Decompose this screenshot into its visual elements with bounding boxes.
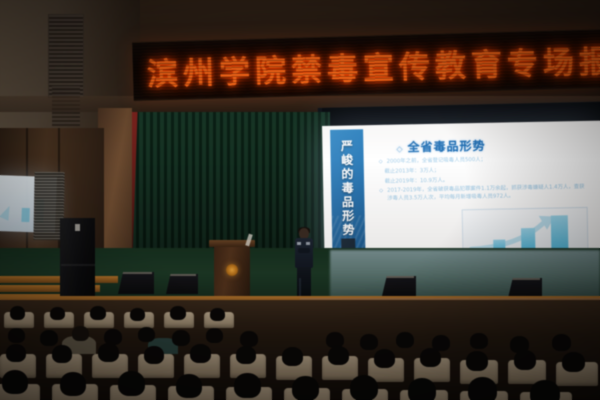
audience-head xyxy=(282,347,303,366)
bullet-dot-icon: ◇ xyxy=(379,159,383,167)
audience-head xyxy=(236,346,256,364)
audience-head xyxy=(8,328,25,343)
audience-head xyxy=(52,345,72,363)
audience-head xyxy=(514,350,536,370)
audience-head xyxy=(562,352,585,372)
audience-head xyxy=(138,327,155,342)
audience-head xyxy=(98,343,119,362)
stage-monitor xyxy=(166,274,198,294)
audience-head xyxy=(466,351,488,371)
audience-head xyxy=(50,307,65,320)
audience-head xyxy=(40,330,58,346)
stage-monitor xyxy=(382,276,416,296)
slide-title-text: 全省毒品形势 xyxy=(407,139,485,154)
slide-bullet-text: 2017-2019年，全省破获毒品犯罪案件1.1万余起，抓获涉毒嫌疑人1.4万人… xyxy=(387,184,585,203)
audience-head xyxy=(60,372,86,396)
speaker-arms xyxy=(298,248,310,253)
audience-head xyxy=(396,332,414,348)
pa-speaker-stack xyxy=(60,218,95,300)
speaker-person xyxy=(293,228,315,300)
auditorium-photo: 滨州学院禁毒宣传教育专场报告会 严峻的毒品形势 ◇全省毒品形势 xyxy=(0,0,600,400)
slide-bullet-text: 2000年之前，全省登记吸毒人员500人； xyxy=(387,157,487,167)
audience-head xyxy=(72,326,89,341)
slide-bullet: ◇ 2017-2019年，全省破获毒品犯罪案件1.1万余起，抓获涉毒嫌疑人1.4… xyxy=(379,184,585,204)
audience-head xyxy=(144,346,164,364)
led-banner-text: 滨州学院禁毒宣传教育专场报告会 xyxy=(146,34,600,94)
audience-head xyxy=(408,378,436,400)
audience-head xyxy=(90,306,106,320)
diamond-bullet-icon: ◇ xyxy=(396,144,403,153)
audience-head xyxy=(552,334,571,351)
speaker-indicator-icon xyxy=(75,224,80,231)
audience-head xyxy=(234,373,261,398)
slide-bullet-text: 截止2019年：10.9万人。 xyxy=(385,177,449,186)
audience-seating xyxy=(0,300,600,400)
audience-head xyxy=(206,328,223,343)
audience-head xyxy=(350,375,378,400)
audience-head xyxy=(292,376,319,400)
audience-head xyxy=(190,344,211,363)
slide-bullet-text: 截止2013年：3万人； xyxy=(384,168,439,177)
stage-monitor xyxy=(508,278,542,298)
bullet-dot-icon xyxy=(379,169,381,177)
audience-head xyxy=(360,334,378,350)
audience-head xyxy=(6,344,26,362)
audience-head xyxy=(130,308,145,321)
audience-head xyxy=(170,306,186,320)
podium-emblem-icon xyxy=(226,264,238,276)
audience-head xyxy=(118,371,145,396)
slide-bullet-list: ◇ 2000年之前，全省登记吸毒人员500人； 截止2013年：3万人； 截止2… xyxy=(379,155,586,206)
audience-head xyxy=(468,377,497,400)
audience-head xyxy=(240,331,258,347)
audience-head xyxy=(176,374,202,398)
audience-head xyxy=(470,333,488,349)
side-screen-arrow-icon xyxy=(0,204,14,221)
slide-sidebar-text: 严峻的毒品形势 xyxy=(338,139,357,237)
audience-head xyxy=(2,370,28,394)
uniform-insignia-icon xyxy=(297,242,301,245)
audience-head xyxy=(210,308,225,321)
uniform-insignia-icon xyxy=(306,242,310,245)
audience-head xyxy=(530,380,560,400)
slide-title: ◇全省毒品形势 xyxy=(396,137,485,156)
bullet-dot-icon xyxy=(379,179,381,187)
audience-head xyxy=(172,330,190,346)
stage-monitor xyxy=(118,272,154,294)
bullet-dot-icon: ◇ xyxy=(379,188,383,204)
audience-head xyxy=(328,346,349,365)
chart-bar xyxy=(551,215,569,249)
chart-bar xyxy=(521,228,535,250)
audience-head xyxy=(374,349,395,368)
audience-head xyxy=(420,348,441,367)
audience-head xyxy=(10,306,25,320)
